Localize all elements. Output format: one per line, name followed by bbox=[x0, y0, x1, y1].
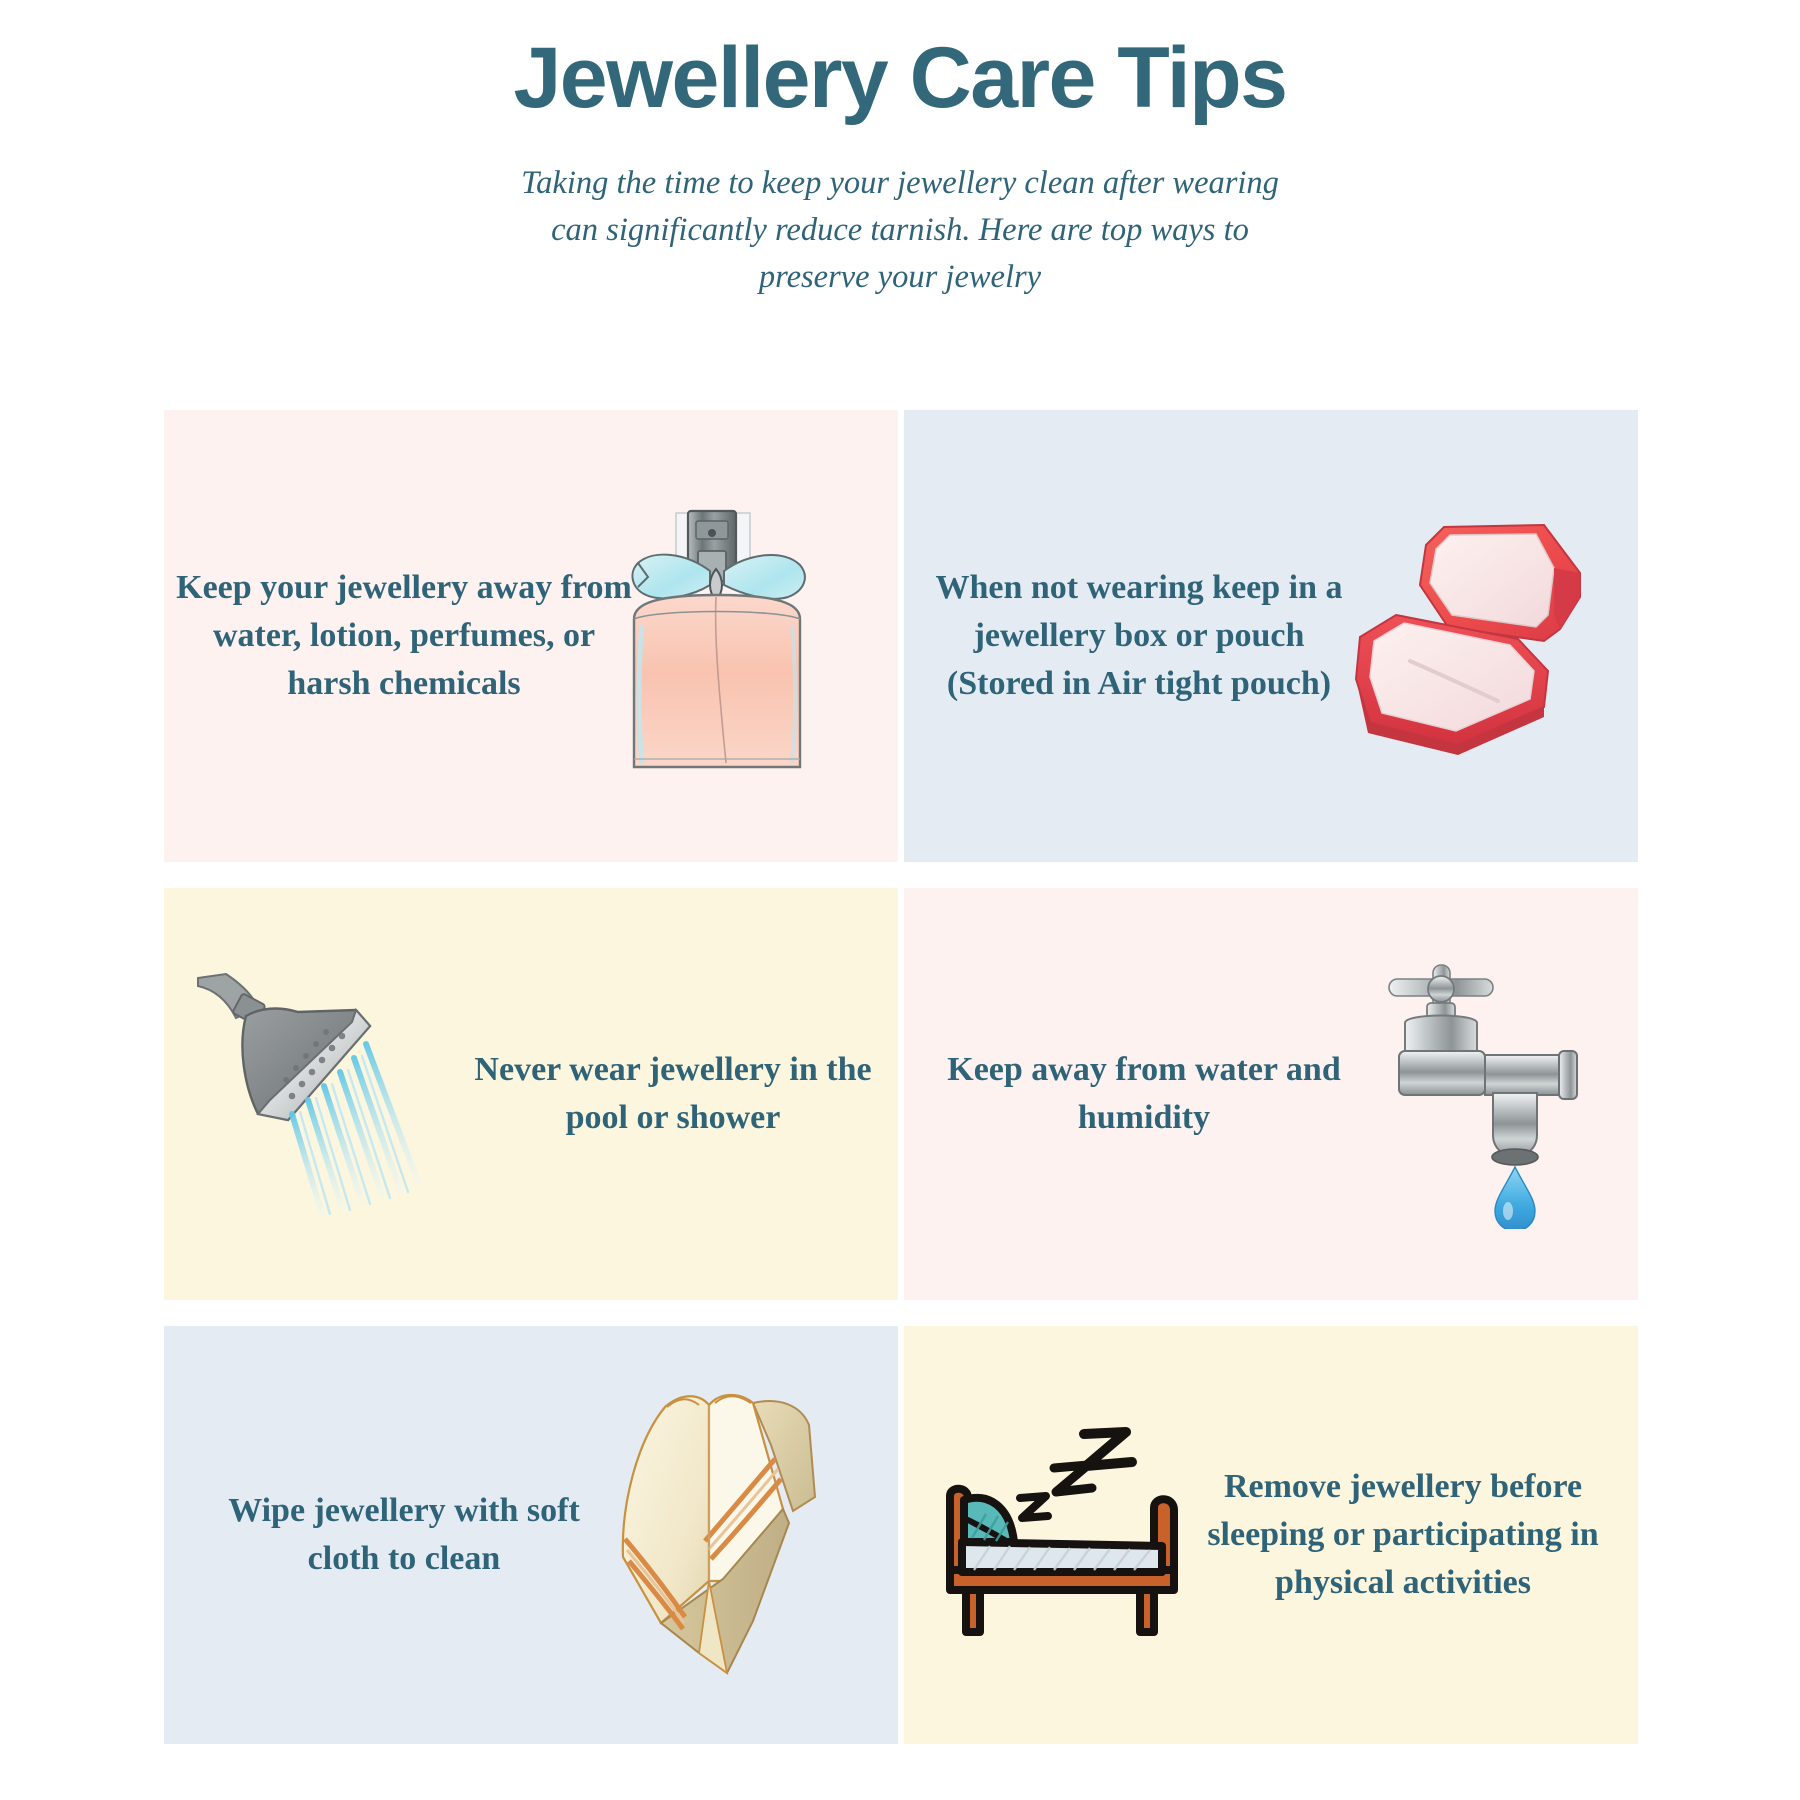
shower-head-icon bbox=[164, 888, 454, 1300]
soft-cloth-icon bbox=[578, 1326, 878, 1744]
tip-card-wipe-cloth: Wipe jewellery with soft cloth to clean bbox=[164, 1326, 898, 1744]
bed-sleeping-icon bbox=[924, 1326, 1214, 1744]
tip-text: Keep your jewellery away from water, lot… bbox=[174, 564, 634, 709]
tip-card-pool-shower: Never wear jewellery in the pool or show… bbox=[164, 888, 898, 1300]
jewellery-box-icon bbox=[1328, 410, 1628, 862]
header: Jewellery Care Tips Taking the time to k… bbox=[0, 0, 1800, 301]
tip-text: When not wearing keep in a jewellery box… bbox=[924, 564, 1354, 709]
infographic-page: Jewellery Care Tips Taking the time to k… bbox=[0, 0, 1800, 1800]
page-title: Jewellery Care Tips bbox=[0, 30, 1800, 126]
tip-text: Keep away from water and humidity bbox=[934, 1046, 1354, 1143]
tip-card-chemicals: Keep your jewellery away from water, lot… bbox=[164, 410, 898, 862]
tips-grid: Keep your jewellery away from water, lot… bbox=[164, 410, 1638, 1744]
tip-text: Wipe jewellery with soft cloth to clean bbox=[194, 1487, 614, 1584]
tip-card-sleeping-activity: Remove jewellery before sleeping or part… bbox=[904, 1326, 1638, 1744]
tip-card-water-humidity: Keep away from water and humidity bbox=[904, 888, 1638, 1300]
tip-text: Never wear jewellery in the pool or show… bbox=[458, 1046, 888, 1143]
page-subtitle: Taking the time to keep your jewellery c… bbox=[505, 160, 1295, 300]
tip-text: Remove jewellery before sleeping or part… bbox=[1188, 1463, 1618, 1608]
tip-card-storage: When not wearing keep in a jewellery box… bbox=[904, 410, 1638, 862]
